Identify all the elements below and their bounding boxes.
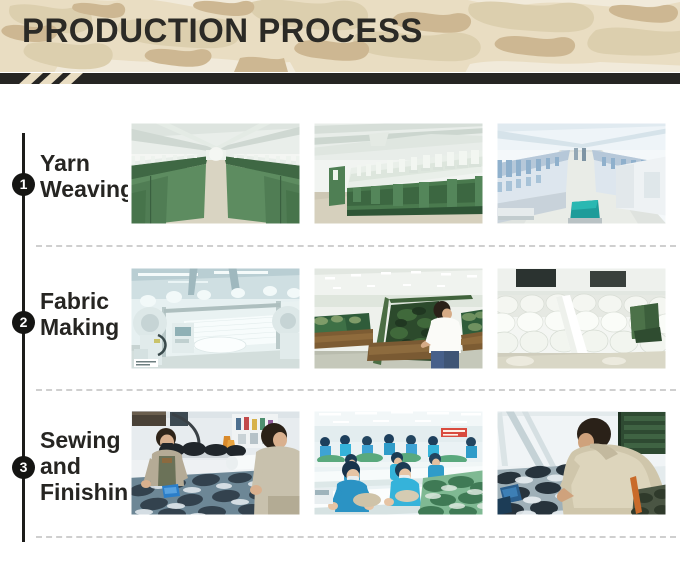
row-divider-1 bbox=[36, 245, 676, 247]
production-process-infographic: PRODUCTION PROCESS 1 Yarn Weaving bbox=[0, 0, 680, 581]
step-label-2: Fabric Making bbox=[40, 288, 119, 340]
photo-yarn-spinning-machines bbox=[311, 120, 486, 227]
header-accent-bar bbox=[0, 72, 680, 84]
step-number-badge-2: 2 bbox=[12, 311, 35, 334]
photo-fabric-weaving-looms bbox=[128, 265, 303, 372]
step-number-badge-3: 3 bbox=[12, 456, 35, 479]
step-row-2: 2 Fabric Making bbox=[0, 265, 680, 385]
accent-bar-slashes bbox=[0, 73, 680, 84]
step-number-badge-1: 1 bbox=[12, 173, 35, 196]
header-banner: PRODUCTION PROCESS bbox=[0, 0, 680, 72]
step-row-3: 3 Sewing and Finishing bbox=[0, 408, 680, 530]
photo-yarn-weaving-hall-aisle bbox=[128, 120, 303, 227]
photo-fabric-inspection-worker bbox=[311, 265, 486, 372]
photo-yarn-bobbin-hall bbox=[494, 120, 669, 227]
page-title: PRODUCTION PROCESS bbox=[22, 13, 423, 49]
row-divider-3 bbox=[36, 536, 676, 538]
step-row-1: 1 Yarn Weaving bbox=[0, 120, 680, 240]
step-label-3: Sewing and Finishing bbox=[40, 427, 142, 505]
photo-cutting-table-workers bbox=[128, 408, 303, 518]
photo-finishing-worker-closeup bbox=[494, 408, 669, 518]
photo-sewing-production-line bbox=[311, 408, 486, 518]
row-divider-2 bbox=[36, 389, 676, 391]
step-label-1: Yarn Weaving bbox=[40, 150, 134, 202]
photo-fabric-roll-warehouse bbox=[494, 265, 669, 372]
